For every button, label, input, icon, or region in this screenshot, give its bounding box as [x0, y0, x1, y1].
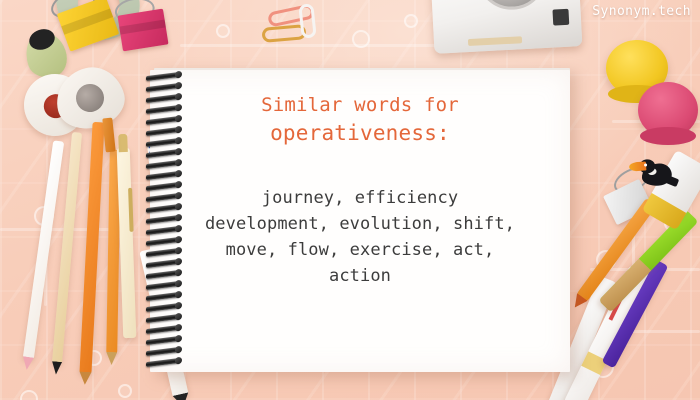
heading-word: operativeness: — [261, 118, 459, 149]
desk-scene: Similar words for operativeness: journey… — [0, 0, 700, 400]
toucan-sticker — [629, 156, 678, 199]
page-heading: Similar words for operativeness: — [261, 93, 459, 149]
heading-prefix: Similar words for — [261, 93, 459, 118]
page-content: Similar words for operativeness: journey… — [150, 66, 570, 368]
pink-macaron — [638, 82, 698, 138]
pink-binder-clip — [117, 9, 168, 52]
site-watermark: Synonym.tech — [592, 4, 691, 19]
synonym-list: journey, efficiency development, evoluti… — [205, 185, 515, 289]
camera — [430, 0, 583, 54]
spiral-notebook: Similar words for operativeness: journey… — [150, 66, 572, 374]
